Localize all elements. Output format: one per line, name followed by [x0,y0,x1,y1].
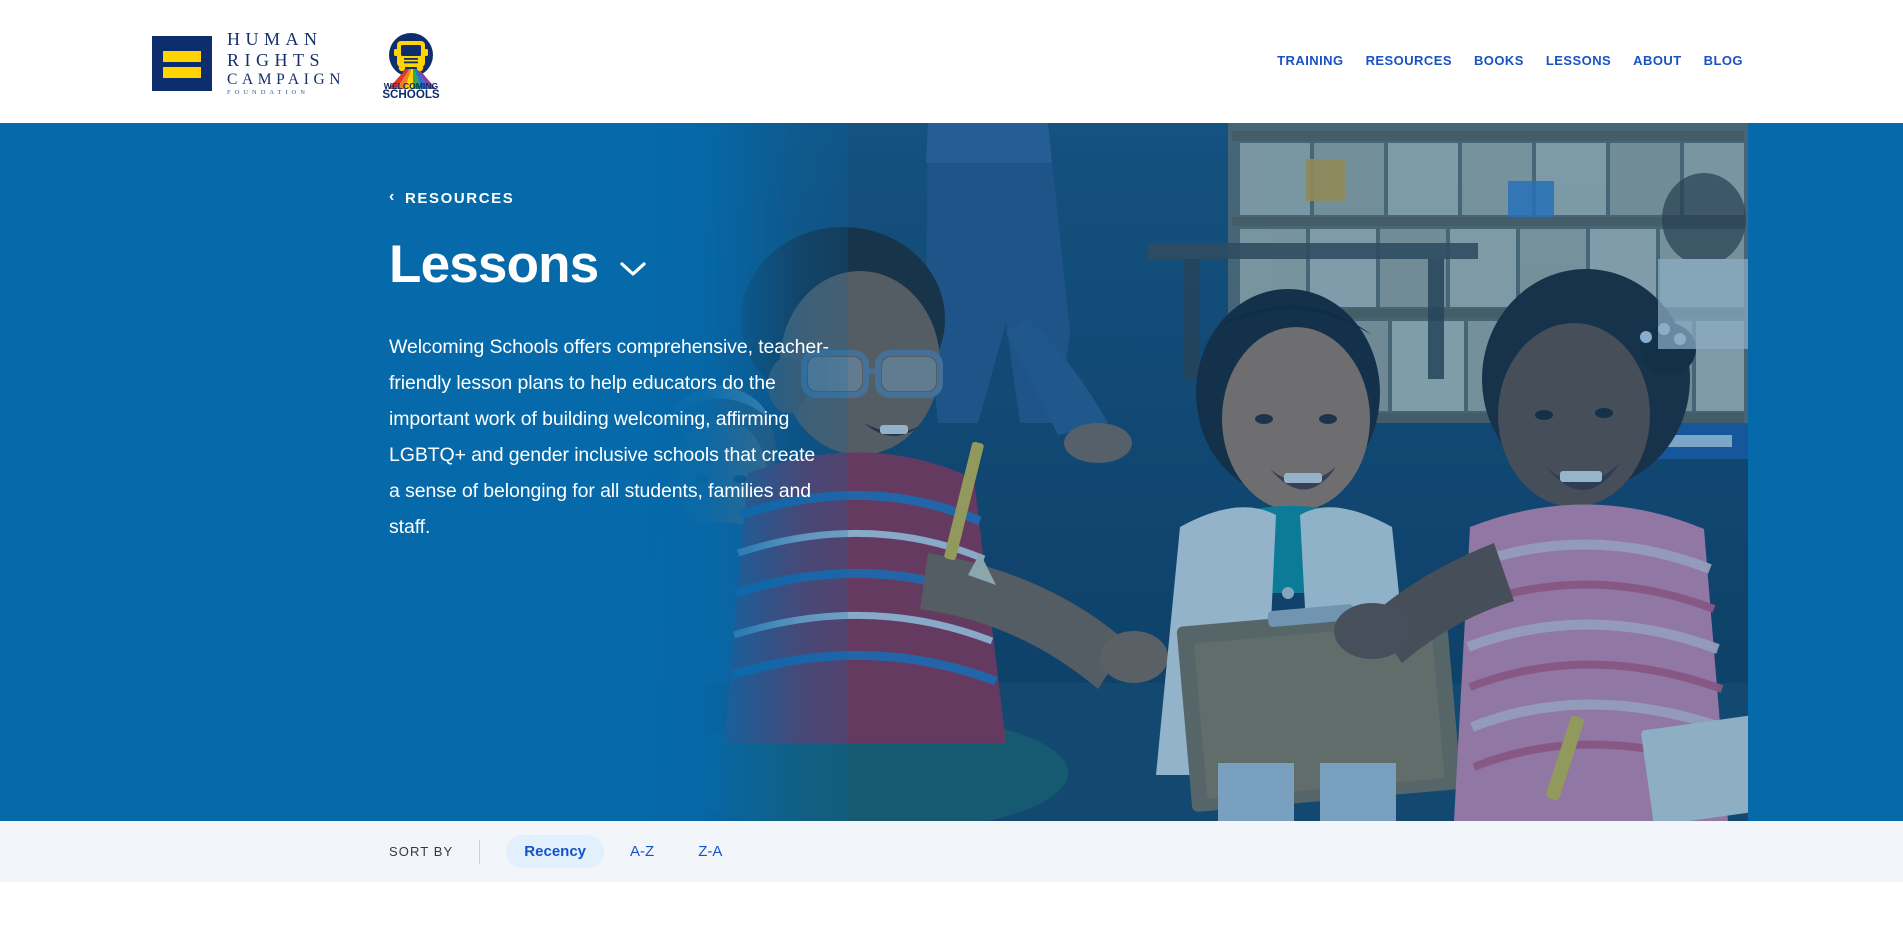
sort-by-label: SORT BY [389,844,453,859]
hrc-equality-icon [152,36,212,91]
main-navigation: TRAINING RESOURCES BOOKS LESSONS ABOUT B… [1277,53,1743,68]
hrc-bar-bottom [163,67,201,78]
site-header: HUMAN RIGHTS CAMPAIGN FOUNDATION [0,0,1903,123]
hero-content: ‹ RESOURCES Lessons Welcoming Schools of… [389,189,919,545]
nav-item-about[interactable]: ABOUT [1633,53,1681,68]
page-title: Lessons [389,238,598,291]
nav-item-training[interactable]: TRAINING [1277,53,1343,68]
hero-section: ‹ RESOURCES Lessons Welcoming Schools of… [0,123,1903,821]
sort-divider [479,840,480,864]
sort-option-a-z[interactable]: A-Z [612,835,672,868]
hrc-bar-top [163,51,201,62]
welcoming-schools-logo-link[interactable]: WELCOMING SCHOOLS [375,27,447,99]
hrc-wordmark: HUMAN RIGHTS CAMPAIGN FOUNDATION [227,30,345,97]
page-title-row: Lessons [389,238,919,291]
hrc-wordmark-line2: RIGHTS [227,51,345,69]
sort-controls: SORT BY Recency A-Z Z-A [389,835,748,868]
sort-option-z-a[interactable]: Z-A [680,835,740,868]
chevron-left-icon: ‹ [389,189,396,205]
nav-item-lessons[interactable]: LESSONS [1546,53,1611,68]
ws-text-line2: SCHOOLS [382,88,440,99]
nav-item-books[interactable]: BOOKS [1474,53,1524,68]
hrc-wordmark-line1: HUMAN [227,30,345,48]
hero-description: Welcoming Schools offers comprehensive, … [389,329,829,545]
welcoming-schools-icon: WELCOMING SCHOOLS [375,27,447,99]
nav-item-resources[interactable]: RESOURCES [1366,53,1452,68]
sort-bar: SORT BY Recency A-Z Z-A [0,821,1903,882]
sort-option-recency[interactable]: Recency [506,835,604,868]
hrc-wordmark-line3: CAMPAIGN [227,72,345,88]
page-body-area [0,882,1903,927]
chevron-down-icon[interactable] [620,261,646,277]
logo-group: HUMAN RIGHTS CAMPAIGN FOUNDATION [152,27,447,99]
hrc-wordmark-line4: FOUNDATION [227,90,345,97]
breadcrumb-label: RESOURCES [405,190,514,207]
breadcrumb-resources[interactable]: ‹ RESOURCES [389,190,514,207]
nav-item-blog[interactable]: BLOG [1704,53,1743,68]
hrc-logo-link[interactable]: HUMAN RIGHTS CAMPAIGN FOUNDATION [152,30,345,97]
